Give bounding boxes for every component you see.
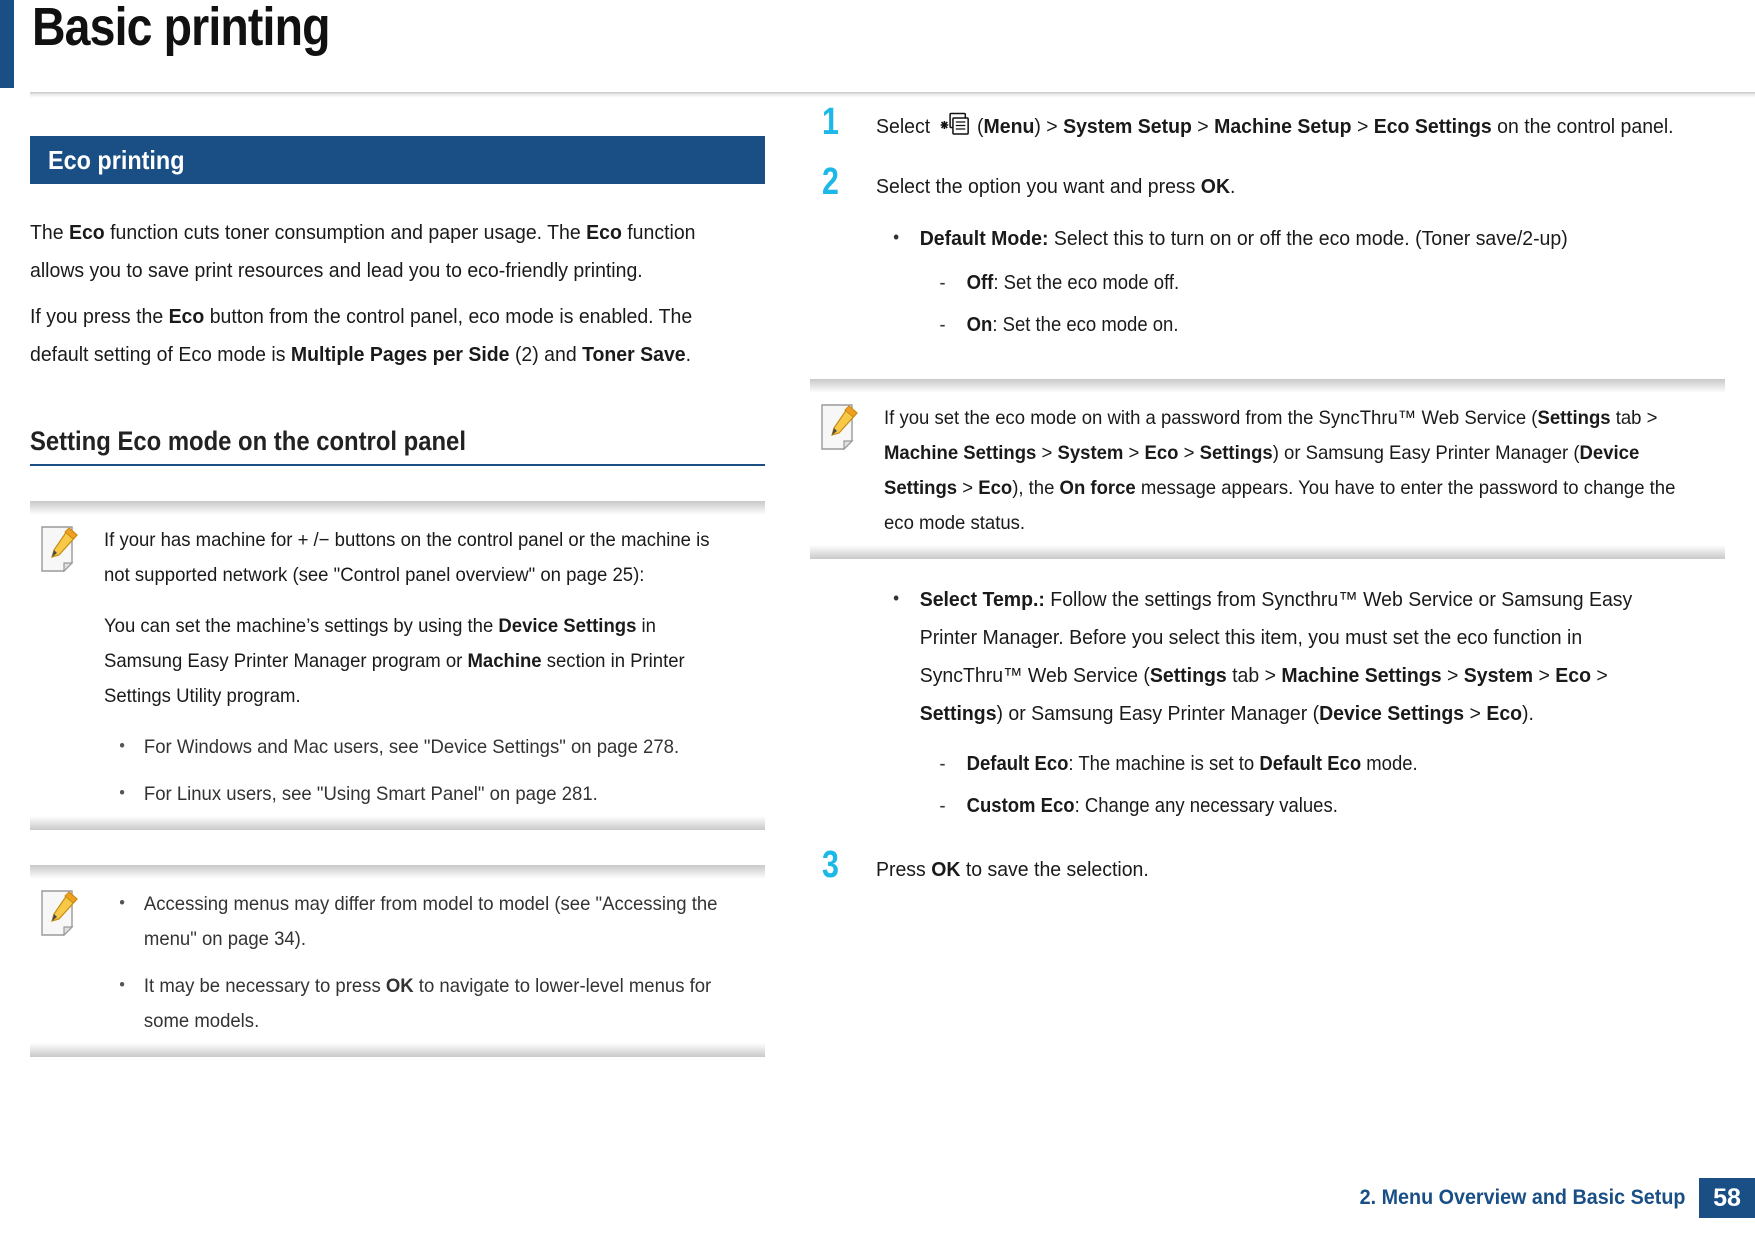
bst-bold-settings-2: Settings — [920, 702, 997, 725]
para1-text-a: The — [30, 221, 69, 244]
list-item: For Windows and Mac users, see "Device S… — [104, 730, 728, 765]
step-1-number: 1 — [822, 102, 839, 144]
footer-chapter-label: 2. Menu Overview and Basic Setup — [1360, 1178, 1699, 1218]
para2-bold-toner-save: Toner Save — [582, 343, 686, 366]
intro-paragraph-2: If you press the Eco button from the con… — [30, 298, 728, 374]
sub-custom-eco-label: Custom Eco — [967, 794, 1075, 817]
note-box-control-panel-content: If your has machine for + /− buttons on … — [104, 523, 761, 812]
note-box-password-content: If you set the eco mode on with a passwo… — [884, 401, 1721, 541]
note-box-control-panel: If your has machine for + /− buttons on … — [30, 500, 765, 830]
step-3: 3 Press OK to save the selection. — [810, 851, 1725, 889]
npw-bold-system: System — [1057, 442, 1123, 464]
sub-on-label: On — [967, 313, 993, 336]
bst-h: ). — [1522, 702, 1534, 725]
step1-text-f: on the control panel. — [1492, 115, 1674, 138]
npw-bold-machine-settings: Machine Settings — [884, 442, 1036, 464]
step1-bold-system-setup: System Setup — [1063, 115, 1192, 138]
step-1: 1 Select (Menu) > System Setup > Machine… — [810, 108, 1725, 146]
page-title: Basic printing — [32, 0, 330, 58]
step-1-text: Select (Menu) > System Setup > Machine S… — [876, 108, 1683, 146]
bullet-select-temp-label: Select Temp.: — [920, 588, 1045, 611]
list-item: For Linux users, see "Using Smart Panel"… — [104, 777, 728, 812]
note1-p2-a: You can set the machine’s settings by us… — [104, 615, 498, 637]
left-column: Eco printing The Eco function cuts toner… — [30, 108, 765, 1057]
note1-paragraph-1: If your has machine for + /− buttons on … — [104, 523, 728, 593]
step1-bold-machine-setup: Machine Setup — [1214, 115, 1351, 138]
npw-bold-settings-2: Settings — [1200, 442, 1273, 464]
npw-bold-settings-1: Settings — [1537, 407, 1610, 429]
bullet-default-mode-text: Select this to turn on or off the eco mo… — [1048, 227, 1567, 250]
section-heading-band: Eco printing — [30, 136, 765, 184]
list-item: Default Mode: Select this to turn on or … — [876, 220, 1683, 344]
note-pencil-icon — [38, 889, 82, 939]
step1-text-c: ) > — [1034, 115, 1063, 138]
intro-paragraph-1: The Eco function cuts toner consumption … — [30, 214, 728, 290]
note-pencil-icon — [38, 525, 82, 575]
para2-text-g: . — [686, 343, 691, 366]
note1-paragraph-2: You can set the machine’s settings by us… — [104, 609, 728, 714]
bst-e: > — [1591, 664, 1608, 687]
step2-bullet-list-part1: Default Mode: Select this to turn on or … — [876, 220, 1725, 344]
bst-bold-eco-2: Eco — [1486, 702, 1522, 725]
sde-c: mode. — [1361, 752, 1418, 775]
bst-d: > — [1533, 664, 1555, 687]
step-2-text: Select the option you want and press OK. — [876, 168, 1683, 206]
note2-b2-a: It may be necessary to press — [144, 975, 386, 997]
note-password-paragraph: If you set the eco mode on with a passwo… — [884, 401, 1679, 541]
step-2: 2 Select the option you want and press O… — [810, 168, 1725, 344]
npw-bold-on-force: On force — [1060, 477, 1136, 499]
note-pencil-icon — [818, 403, 862, 453]
step-2-continued: Select Temp.: Follow the settings from S… — [810, 581, 1725, 825]
list-item: Off: Set the eco mode off. — [920, 264, 1645, 302]
list-item: Select Temp.: Follow the settings from S… — [876, 581, 1683, 825]
sub-off-label: Off — [967, 271, 994, 294]
step1-text-a: Select — [876, 115, 936, 138]
bst-bold-settings-1: Settings — [1150, 664, 1227, 687]
subsection-heading: Setting Eco mode on the control panel — [30, 426, 765, 466]
note-box-accessing-menus: Accessing menus may differ from model to… — [30, 864, 765, 1057]
npw-e: > — [1178, 442, 1199, 464]
bst-c: > — [1442, 664, 1464, 687]
header-accent-bar — [0, 0, 14, 88]
step-3-text: Press OK to save the selection. — [876, 851, 1683, 889]
note1-p2-bold-device-settings: Device Settings — [498, 615, 636, 637]
para2-bold-eco: Eco — [169, 305, 205, 328]
para1-bold-eco-1: Eco — [69, 221, 105, 244]
note1-p2-bold-machine: Machine — [467, 650, 541, 672]
step2-bold-ok: OK — [1201, 175, 1230, 198]
sub-custom-eco-text: : Change any necessary values. — [1075, 794, 1338, 817]
npw-c: > — [1036, 442, 1057, 464]
step1-text-b: ( — [972, 115, 984, 138]
step1-text-e: > — [1352, 115, 1374, 138]
bst-bold-system: System — [1464, 664, 1533, 687]
npw-h: ), the — [1012, 477, 1059, 499]
sub-default-eco-label: Default Eco — [967, 752, 1069, 775]
bullet-default-mode-label: Default Mode: — [920, 227, 1049, 250]
bst-g: > — [1464, 702, 1486, 725]
bst-bold-device-settings: Device Settings — [1319, 702, 1464, 725]
list-item: It may be necessary to press OK to navig… — [104, 969, 728, 1039]
para2-bold-multiple-pages: Multiple Pages per Side — [291, 343, 510, 366]
npw-bold-eco-2: Eco — [978, 477, 1012, 499]
sde-bold-default-eco: Default Eco — [1259, 752, 1361, 775]
sub-on-text: : Set the eco mode on. — [992, 313, 1178, 336]
para1-bold-eco-2: Eco — [586, 221, 622, 244]
sub-off-text: : Set the eco mode off. — [993, 271, 1179, 294]
step1-bold-menu: Menu — [984, 115, 1035, 138]
step2-bullet-list-part2: Select Temp.: Follow the settings from S… — [876, 581, 1725, 825]
subsection-heading-rule — [30, 464, 765, 466]
page-footer: 2. Menu Overview and Basic Setup 58 — [1338, 1178, 1755, 1218]
npw-b: tab > — [1611, 407, 1658, 429]
note1-bullet-list: For Windows and Mac users, see "Device S… — [104, 730, 761, 812]
npw-f: ) or Samsung Easy Printer Manager ( — [1273, 442, 1580, 464]
list-item: On: Set the eco mode on. — [920, 306, 1645, 344]
npw-bold-eco-1: Eco — [1145, 442, 1179, 464]
para2-text-e: (2) and — [510, 343, 583, 366]
page-columns: Eco printing The Eco function cuts toner… — [0, 108, 1755, 1240]
step1-text-d: > — [1192, 115, 1214, 138]
npw-g: > — [957, 477, 978, 499]
right-column: 1 Select (Menu) > System Setup > Machine… — [810, 108, 1725, 911]
step1-bold-eco-settings: Eco Settings — [1374, 115, 1492, 138]
bst-bold-machine-settings: Machine Settings — [1281, 664, 1441, 687]
page-header: Basic printing — [0, 0, 1755, 98]
bst-bold-eco-1: Eco — [1555, 664, 1591, 687]
bst-b: tab > — [1227, 664, 1282, 687]
para2-text-a: If you press the — [30, 305, 169, 328]
list-item: Default Eco: The machine is set to Defau… — [920, 745, 1645, 783]
list-item: Accessing menus may differ from model to… — [104, 887, 728, 957]
step3-text-a: Press — [876, 858, 931, 881]
note2-b2-bold-ok: OK — [386, 975, 414, 997]
npw-a: If you set the eco mode on with a passwo… — [884, 407, 1537, 429]
npw-d: > — [1123, 442, 1144, 464]
note-box-password: If you set the eco mode on with a passwo… — [810, 378, 1725, 559]
note-box-accessing-menus-content: Accessing menus may differ from model to… — [104, 887, 761, 1039]
step-2-number: 2 — [822, 162, 839, 204]
sde-a: : The machine is set to — [1068, 752, 1259, 775]
section-heading-label: Eco printing — [48, 145, 185, 176]
menu-icon — [937, 112, 969, 138]
step3-text-c: to save the selection. — [960, 858, 1148, 881]
header-divider — [30, 92, 1755, 98]
step-3-number: 3 — [822, 845, 839, 887]
step2-text-a: Select the option you want and press — [876, 175, 1201, 198]
bst-f: ) or Samsung Easy Printer Manager ( — [997, 702, 1320, 725]
subsection-heading-label: Setting Eco mode on the control panel — [30, 426, 692, 457]
note2-bullet-list: Accessing menus may differ from model to… — [104, 887, 761, 1039]
step2-text-c: . — [1230, 175, 1235, 198]
para1-text-c: function cuts toner consumption and pape… — [105, 221, 586, 244]
select-temp-sub-list: Default Eco: The machine is set to Defau… — [920, 745, 1683, 825]
list-item: Custom Eco: Change any necessary values. — [920, 787, 1645, 825]
step3-bold-ok: OK — [931, 858, 960, 881]
default-mode-sub-list: Off: Set the eco mode off. On: Set the e… — [920, 264, 1683, 344]
footer-page-number: 58 — [1699, 1178, 1755, 1218]
